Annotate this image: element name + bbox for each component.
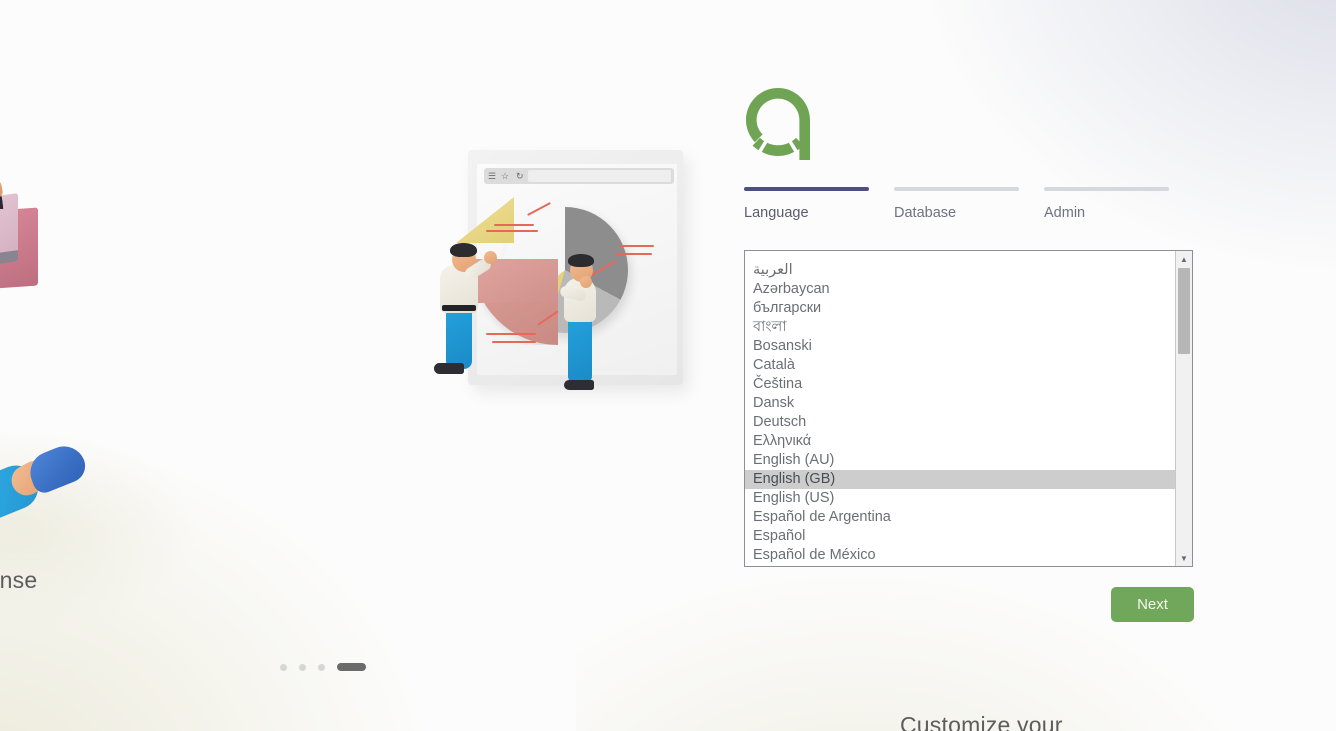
browser-toolbar: ☰ ☆ ↻ bbox=[484, 168, 674, 184]
hamburger-menu-icon: ☰ bbox=[488, 171, 496, 181]
reload-icon: ↻ bbox=[516, 171, 524, 181]
language-option[interactable]: English (US) bbox=[745, 489, 1175, 508]
language-option-selected[interactable]: English (GB) bbox=[745, 470, 1175, 489]
language-option[interactable]: Español de México bbox=[745, 546, 1175, 565]
language-option[interactable]: Español de Argentina bbox=[745, 508, 1175, 527]
person-hand bbox=[580, 276, 592, 288]
leg-illustration bbox=[0, 455, 115, 575]
language-options-container[interactable]: العربيةAzərbaycanбългарскиবাংলাBosanskiC… bbox=[745, 251, 1175, 566]
scroll-up-arrow-icon[interactable]: ▲ bbox=[1176, 251, 1192, 267]
language-option[interactable]: Čeština bbox=[745, 375, 1175, 394]
accent-line bbox=[494, 224, 534, 226]
step-database[interactable]: Database bbox=[894, 187, 1019, 221]
person-hair bbox=[450, 243, 477, 257]
odoo-a-logo bbox=[744, 88, 812, 160]
language-option[interactable]: العربية bbox=[745, 261, 1175, 280]
step-admin[interactable]: Admin bbox=[1044, 187, 1169, 221]
person-belt bbox=[442, 305, 476, 311]
step-database-bar bbox=[894, 187, 1019, 191]
browser-address-field bbox=[528, 170, 671, 182]
accent-line bbox=[616, 253, 652, 255]
person-shoe bbox=[564, 380, 594, 390]
setup-wizard-panel: Language Database Admin العربيةAzərbayca… bbox=[744, 88, 1194, 622]
carousel-caption-previous: xpense bbox=[0, 567, 37, 594]
carousel-indicators[interactable] bbox=[280, 663, 366, 671]
step-admin-label: Admin bbox=[1044, 205, 1169, 221]
setup-page: xpense ☰ ☆ ↻ bbox=[0, 0, 1336, 731]
next-button[interactable]: Next bbox=[1111, 587, 1194, 622]
step-language[interactable]: Language bbox=[744, 187, 869, 221]
shopping-bag-illustration bbox=[0, 185, 108, 305]
language-option[interactable]: български bbox=[745, 299, 1175, 318]
step-admin-bar bbox=[1044, 187, 1169, 191]
language-option[interactable]: বাংলা bbox=[745, 318, 1175, 337]
person-hand bbox=[484, 251, 497, 264]
carousel-dot-3[interactable] bbox=[318, 664, 325, 671]
step-language-label: Language bbox=[744, 205, 869, 221]
person-legs bbox=[446, 307, 472, 369]
accent-line bbox=[486, 230, 538, 232]
carousel-slide-current: ☰ ☆ ↻ bbox=[430, 145, 670, 395]
language-option[interactable]: Español bbox=[745, 527, 1175, 546]
person-hair bbox=[568, 254, 594, 267]
carousel-dot-4-active[interactable] bbox=[337, 663, 366, 671]
carousel-caption-current: Customize your bbox=[900, 712, 1063, 731]
carousel-dot-2[interactable] bbox=[299, 664, 306, 671]
language-option[interactable]: English (AU) bbox=[745, 451, 1175, 470]
wizard-actions: Next bbox=[744, 587, 1194, 622]
scroll-down-arrow-icon[interactable]: ▼ bbox=[1176, 550, 1192, 566]
language-list-scrollbar[interactable]: ▲ ▼ bbox=[1175, 251, 1192, 566]
person-legs bbox=[568, 316, 592, 384]
language-option[interactable]: Ελληνικά bbox=[745, 432, 1175, 451]
step-database-label: Database bbox=[894, 205, 1019, 221]
accent-line bbox=[620, 245, 654, 247]
accent-line bbox=[492, 341, 536, 343]
star-icon: ☆ bbox=[501, 171, 509, 181]
language-listbox[interactable]: العربيةAzərbaycanбългарскиবাংলাBosanskiC… bbox=[744, 250, 1193, 567]
person-shoe bbox=[434, 363, 464, 374]
carousel-slide-previous: xpense bbox=[0, 0, 320, 731]
wizard-stepper: Language Database Admin bbox=[744, 187, 1194, 221]
language-option[interactable]: Bosanski bbox=[745, 337, 1175, 356]
person-illustration-left bbox=[436, 235, 496, 375]
language-option[interactable]: Dansk bbox=[745, 394, 1175, 413]
language-option[interactable]: Deutsch bbox=[745, 413, 1175, 432]
language-option[interactable]: Català bbox=[745, 356, 1175, 375]
scrollbar-thumb[interactable] bbox=[1178, 268, 1190, 354]
carousel-dot-1[interactable] bbox=[280, 664, 287, 671]
step-language-bar bbox=[744, 187, 869, 191]
language-option[interactable]: Azərbaycan bbox=[745, 280, 1175, 299]
person-illustration-right bbox=[558, 250, 614, 390]
